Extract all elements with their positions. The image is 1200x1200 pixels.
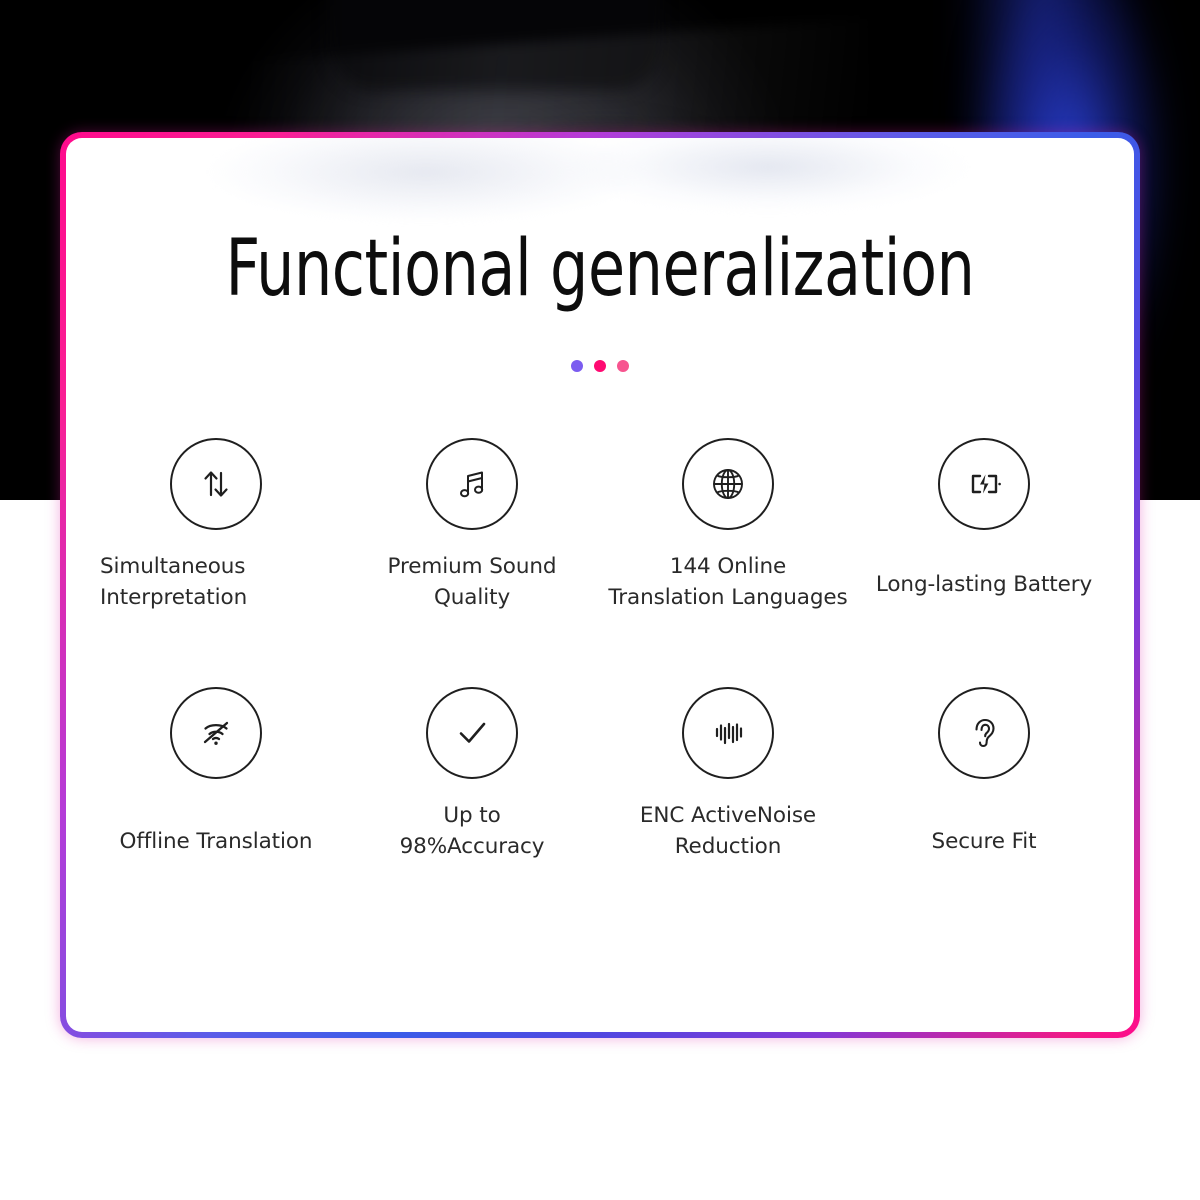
feature-item: Secure Fit — [856, 687, 1112, 862]
feature-card: Functional generalization — [66, 138, 1134, 1032]
feature-label: Long-lasting Battery — [876, 570, 1092, 601]
dot-pink — [617, 360, 629, 372]
feature-label: Up to 98%Accuracy — [400, 801, 545, 862]
feature-label: Simultaneous Interpretation — [88, 552, 344, 613]
checkmark-icon — [426, 687, 518, 779]
feature-label: 144 Online Translation Languages — [608, 552, 847, 613]
feature-item: 144 Online Translation Languages — [600, 438, 856, 613]
feature-item: Up to 98%Accuracy — [344, 687, 600, 862]
feature-item: Premium Sound Quality — [344, 438, 600, 613]
battery-charging-icon — [938, 438, 1030, 530]
feature-label: Premium Sound Quality — [388, 552, 557, 613]
feature-item: ENC ActiveNoise Reduction — [600, 687, 856, 862]
feature-item: Offline Translation — [88, 687, 344, 862]
sound-wave-icon — [682, 687, 774, 779]
music-note-icon — [426, 438, 518, 530]
ghost-product-watermark — [156, 138, 1056, 232]
ear-icon — [938, 687, 1030, 779]
exchange-arrows-icon — [170, 438, 262, 530]
feature-label: Secure Fit — [932, 827, 1037, 858]
globe-icon — [682, 438, 774, 530]
product-feature-banner: Functional generalization — [0, 0, 1200, 1200]
feature-grid: Simultaneous Interpretation Premium Soun… — [88, 438, 1112, 862]
wifi-off-icon — [170, 687, 262, 779]
feature-card-frame: Functional generalization — [60, 132, 1140, 1038]
dot-magenta — [594, 360, 606, 372]
page-title: Functional generalization — [141, 224, 1059, 314]
decorative-dots — [66, 360, 1134, 372]
feature-label: Offline Translation — [120, 827, 313, 858]
feature-label: ENC ActiveNoise Reduction — [640, 801, 816, 862]
feature-item: Long-lasting Battery — [856, 438, 1112, 613]
dot-violet — [571, 360, 583, 372]
feature-item: Simultaneous Interpretation — [88, 438, 344, 613]
